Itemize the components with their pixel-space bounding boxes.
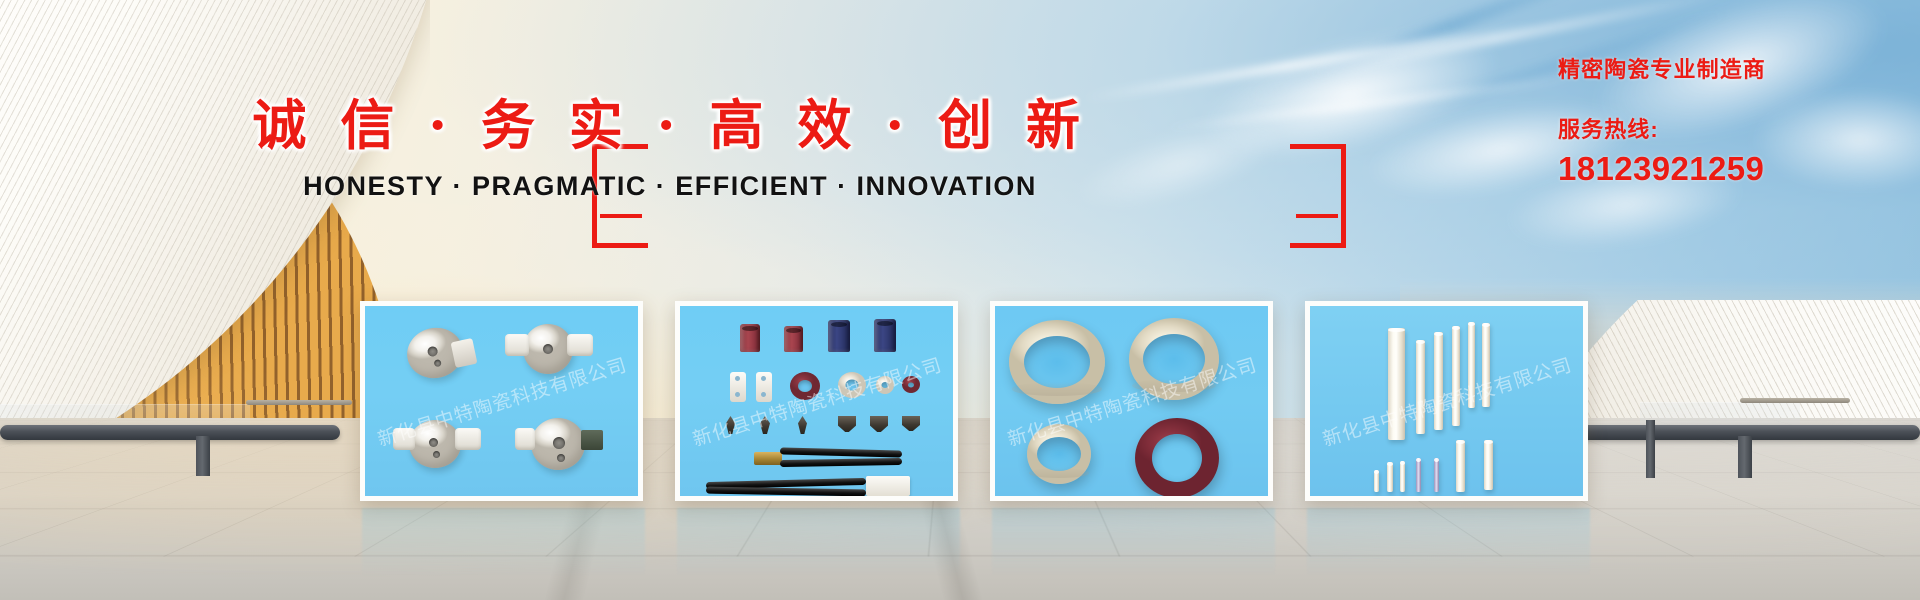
contact-block: 精密陶瓷专业制造商 服务热线: 18123921259: [1558, 52, 1898, 188]
slogan-english: HONESTY · PRAGMATIC · EFFICIENT · INNOVA…: [0, 171, 1340, 202]
product-panel-tubes-connectors[interactable]: 新化县中特陶瓷科技有限公司: [675, 301, 958, 501]
hotline-label: 服务热线:: [1558, 112, 1898, 144]
product-panel-ceramic-rods[interactable]: 新化县中特陶瓷科技有限公司: [1305, 301, 1588, 501]
panel-watermark: 新化县中特陶瓷科技有限公司: [689, 350, 945, 452]
slogan-chinese: 诚 信 · 务 实 · 高 效 · 创 新: [0, 96, 1340, 155]
panel-reflection: [1307, 508, 1590, 586]
rule-right-decoration: [1296, 214, 1338, 218]
product-panel-lamp-holders[interactable]: 新化县中特陶瓷科技有限公司: [360, 301, 643, 501]
panel-watermark: 新化县中特陶瓷科技有限公司: [1319, 350, 1575, 452]
product-panel-ceramic-rings[interactable]: 新化县中特陶瓷科技有限公司: [990, 301, 1273, 501]
panel-reflection: [677, 508, 960, 586]
contact-title: 精密陶瓷专业制造商: [1558, 52, 1898, 84]
rule-left-decoration: [600, 214, 642, 218]
panel-reflection: [992, 508, 1275, 586]
hotline-number[interactable]: 18123921259: [1558, 150, 1898, 188]
slogan-block: 诚 信 · 务 实 · 高 效 · 创 新 HONESTY · PRAGMATI…: [0, 96, 1340, 202]
hero-banner: 诚 信 · 务 实 · 高 效 · 创 新 HONESTY · PRAGMATI…: [0, 0, 1920, 600]
panel-reflection: [362, 508, 645, 586]
tiled-floor: [0, 418, 1920, 600]
